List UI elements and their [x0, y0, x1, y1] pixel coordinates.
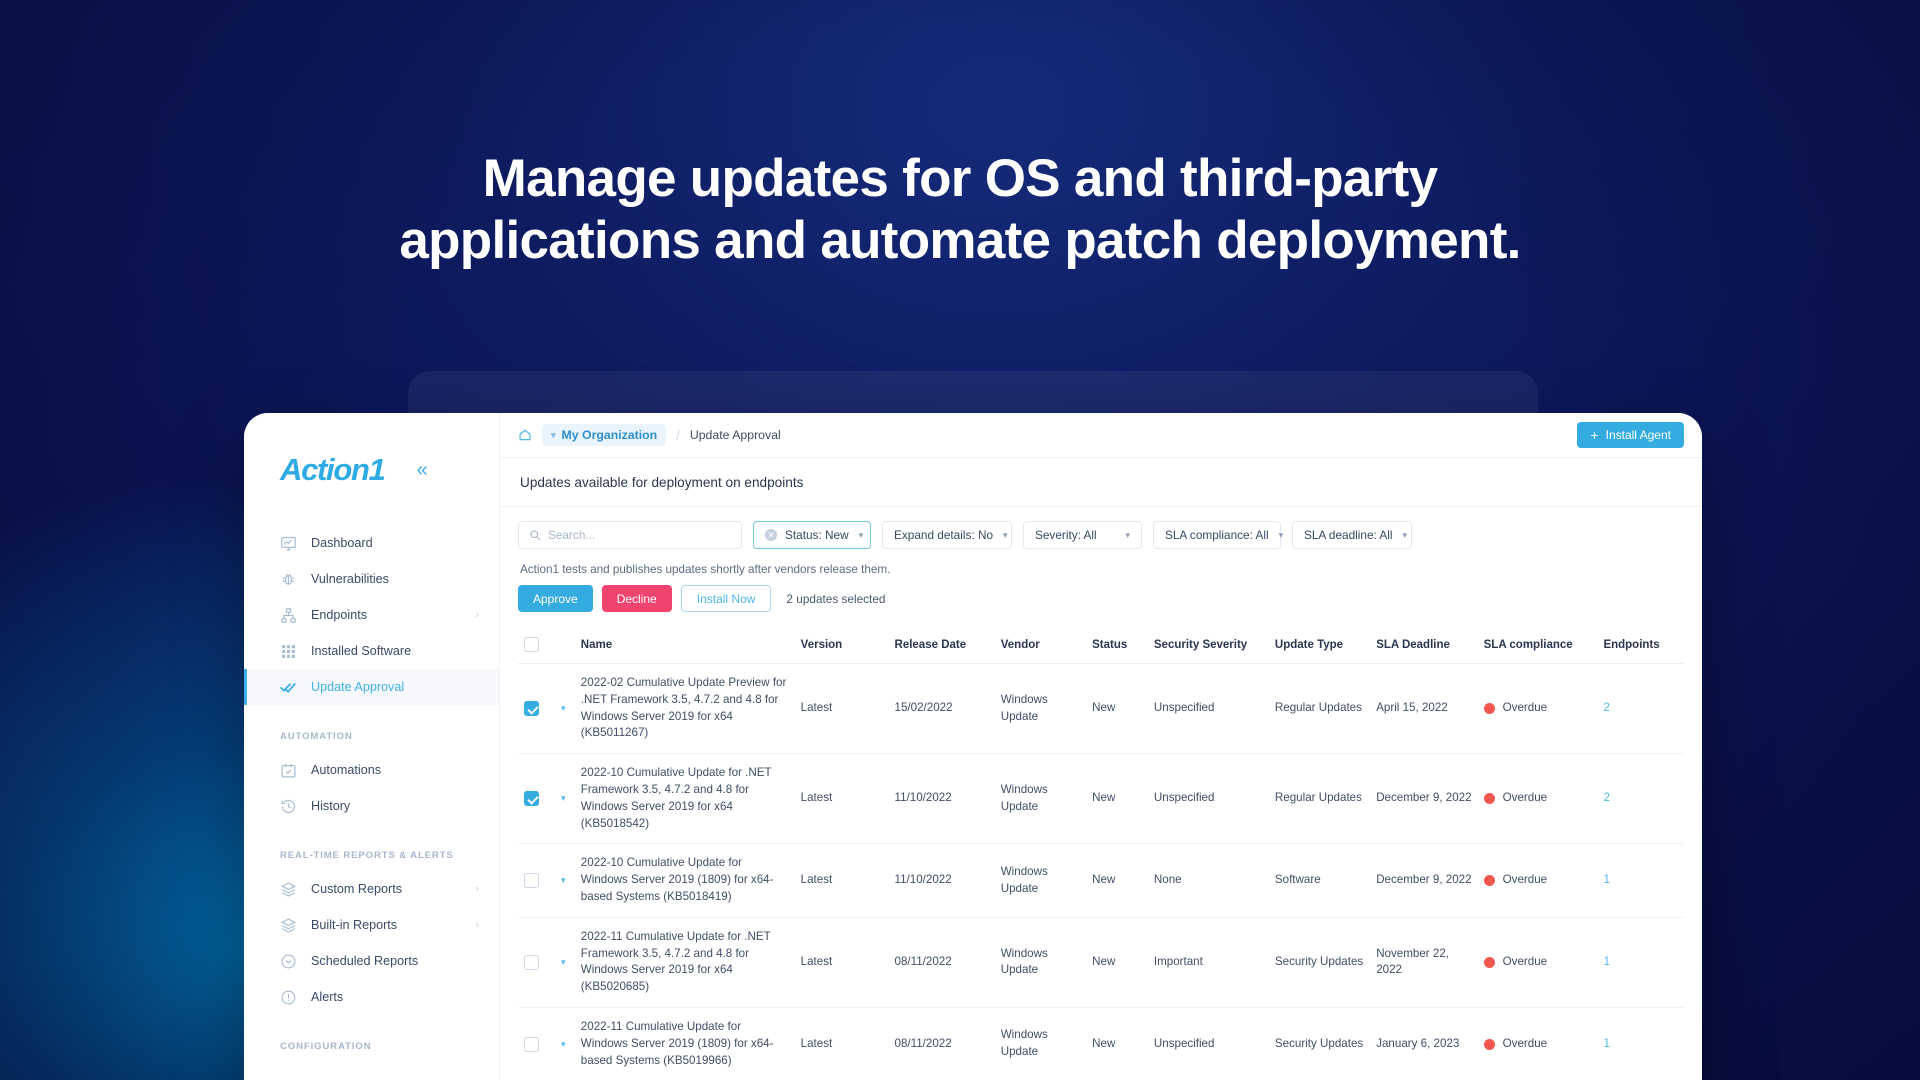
- chevron-down-icon[interactable]: ▾: [561, 875, 566, 885]
- sidebar-nav-reports: Custom Reports › Built-in Reports ›: [244, 871, 499, 1015]
- chevron-down-icon[interactable]: ▾: [561, 703, 566, 713]
- sidebar-item-history[interactable]: History: [244, 788, 499, 824]
- table-row[interactable]: ▾2022-10 Cumulative Update for Windows S…: [518, 844, 1684, 917]
- sla-status-label: Overdue: [1503, 790, 1547, 807]
- history-icon: [280, 798, 297, 815]
- home-icon[interactable]: [518, 428, 532, 442]
- endpoints-link[interactable]: 1: [1603, 873, 1609, 886]
- sidebar-item-vulnerabilities[interactable]: Vulnerabilities: [244, 561, 499, 597]
- updates-table: Name Version Release Date Vendor Status …: [518, 628, 1684, 1080]
- table-row[interactable]: ▾2022-11 Cumulative Update for Windows S…: [518, 1007, 1684, 1080]
- sidebar-item-installed-software[interactable]: Installed Software: [244, 633, 499, 669]
- row-select-cell: [518, 664, 555, 754]
- cell-sla-compliance: Overdue: [1478, 754, 1598, 844]
- promo-stage: Manage updates for OS and third-party ap…: [0, 0, 1920, 1080]
- sidebar-item-label: Update Approval: [311, 680, 479, 694]
- row-expand-cell: ▾: [555, 917, 575, 1007]
- row-expand-cell: ▾: [555, 664, 575, 754]
- sla-status-dot: [1484, 793, 1495, 804]
- select-all-checkbox[interactable]: [524, 637, 539, 652]
- close-circle-icon[interactable]: ✕: [765, 529, 777, 541]
- filter-expand-details[interactable]: Expand details: No ▾: [882, 521, 1012, 549]
- search-icon: [529, 529, 541, 541]
- selected-count-label: 2 updates selected: [786, 592, 885, 606]
- filter-sla-deadline[interactable]: SLA deadline: All ▾: [1292, 521, 1412, 549]
- column-header-status[interactable]: Status: [1086, 628, 1148, 664]
- cell-release-date: 15/02/2022: [889, 664, 995, 754]
- table-row[interactable]: ▾2022-11 Cumulative Update for .NET Fram…: [518, 917, 1684, 1007]
- cell-release-date: 08/11/2022: [889, 917, 995, 1007]
- endpoints-link[interactable]: 2: [1603, 701, 1609, 714]
- cell-security-severity: Unspecified: [1148, 1007, 1269, 1080]
- column-header-security-severity[interactable]: Security Severity: [1148, 628, 1269, 664]
- column-header-sla-deadline[interactable]: SLA Deadline: [1370, 628, 1477, 664]
- column-header-sla-compliance[interactable]: SLA compliance: [1478, 628, 1598, 664]
- cell-release-date: 11/10/2022: [889, 844, 995, 917]
- plus-icon: +: [1590, 428, 1598, 442]
- cell-sla-deadline: April 15, 2022: [1370, 664, 1477, 754]
- column-header-version[interactable]: Version: [795, 628, 889, 664]
- endpoints-link[interactable]: 1: [1603, 1037, 1609, 1050]
- breadcrumb-separator: /: [676, 428, 680, 443]
- headline-line-1: Manage updates for OS and third-party: [0, 148, 1920, 210]
- sla-status-dot: [1484, 875, 1495, 886]
- sidebar-nav-automation: Automations History: [244, 752, 499, 824]
- filter-status-label: Status: New: [785, 528, 849, 542]
- search-box[interactable]: [518, 521, 742, 549]
- row-checkbox[interactable]: [524, 791, 539, 806]
- breadcrumb-current-page: Update Approval: [690, 428, 781, 442]
- cell-status: New: [1086, 754, 1148, 844]
- sidebar-nav-main: Dashboard Vulnerabilities: [244, 525, 499, 705]
- cell-update-type: Software: [1269, 844, 1370, 917]
- cell-vendor: Windows Update: [995, 1007, 1086, 1080]
- sidebar-item-scheduled-reports[interactable]: Scheduled Reports: [244, 943, 499, 979]
- cell-vendor: Windows Update: [995, 664, 1086, 754]
- cell-endpoints: 1: [1597, 917, 1684, 1007]
- chevron-right-icon: ›: [475, 610, 479, 621]
- row-checkbox[interactable]: [524, 873, 539, 888]
- sidebar-item-custom-reports[interactable]: Custom Reports ›: [244, 871, 499, 907]
- filter-sla-compliance-label: SLA compliance: All: [1165, 528, 1269, 542]
- publish-hint: Action1 tests and publishes updates shor…: [518, 549, 1684, 585]
- cell-security-severity: Important: [1148, 917, 1269, 1007]
- cell-vendor: Windows Update: [995, 754, 1086, 844]
- sidebar-item-label: Vulnerabilities: [311, 572, 479, 586]
- filter-sla-deadline-label: SLA deadline: All: [1304, 528, 1393, 542]
- sidebar-item-update-approval[interactable]: Update Approval: [244, 669, 499, 705]
- filter-bar: ✕ Status: New ▾ Expand details: No ▾ Sev…: [518, 507, 1684, 549]
- sidebar-item-label: Alerts: [311, 990, 479, 1004]
- breadcrumb-organization-label: My Organization: [562, 428, 658, 442]
- chevron-down-icon[interactable]: ▾: [561, 957, 566, 967]
- table-body: ▾2022-02 Cumulative Update Preview for .…: [518, 664, 1684, 1080]
- search-input[interactable]: [548, 528, 731, 542]
- expand-header-cell: [555, 628, 575, 664]
- row-checkbox[interactable]: [524, 701, 539, 716]
- cell-endpoints: 2: [1597, 754, 1684, 844]
- cell-sla-compliance: Overdue: [1478, 1007, 1598, 1080]
- headline-line-2: applications and automate patch deployme…: [0, 210, 1920, 272]
- sidebar-item-label: Built-in Reports: [311, 918, 461, 932]
- cell-version: Latest: [795, 844, 889, 917]
- table-header-row: Name Version Release Date Vendor Status …: [518, 628, 1684, 664]
- page-headline: Manage updates for OS and third-party ap…: [0, 148, 1920, 272]
- chevron-right-icon: ›: [475, 884, 479, 895]
- layers-icon: [280, 881, 297, 898]
- row-expand-cell: ▾: [555, 754, 575, 844]
- cell-endpoints: 2: [1597, 664, 1684, 754]
- action-row: Approve Decline Install Now 2 updates se…: [518, 585, 1684, 628]
- sla-status-dot: [1484, 1039, 1495, 1050]
- row-expand-cell: ▾: [555, 844, 575, 917]
- grid-icon: [280, 643, 297, 660]
- cell-name: 2022-10 Cumulative Update for Windows Se…: [575, 844, 795, 917]
- cell-security-severity: Unspecified: [1148, 664, 1269, 754]
- row-select-cell: [518, 1007, 555, 1080]
- filter-severity[interactable]: Severity: All ▾: [1023, 521, 1142, 549]
- cell-sla-compliance: Overdue: [1478, 664, 1598, 754]
- row-checkbox[interactable]: [524, 955, 539, 970]
- cell-name: 2022-11 Cumulative Update for .NET Frame…: [575, 917, 795, 1007]
- chevrons-left-icon[interactable]: «: [417, 460, 428, 480]
- cell-version: Latest: [795, 1007, 889, 1080]
- cell-security-severity: Unspecified: [1148, 754, 1269, 844]
- column-header-endpoints[interactable]: Endpoints: [1597, 628, 1684, 664]
- cell-vendor: Windows Update: [995, 917, 1086, 1007]
- sla-status-dot: [1484, 957, 1495, 968]
- cell-version: Latest: [795, 917, 889, 1007]
- clock-circle-icon: [280, 953, 297, 970]
- sla-status-label: Overdue: [1503, 872, 1547, 889]
- approve-button[interactable]: Approve: [518, 585, 593, 612]
- bug-icon: [280, 571, 297, 588]
- chevron-down-icon: ▾: [1125, 530, 1130, 541]
- cell-vendor: Windows Update: [995, 844, 1086, 917]
- cell-security-severity: None: [1148, 844, 1269, 917]
- column-header-vendor[interactable]: Vendor: [995, 628, 1086, 664]
- topbar: ▾ My Organization / Update Approval + In…: [500, 413, 1702, 458]
- row-select-cell: [518, 844, 555, 917]
- cell-release-date: 11/10/2022: [889, 754, 995, 844]
- chevron-right-icon: ›: [475, 920, 479, 931]
- cell-sla-compliance: Overdue: [1478, 844, 1598, 917]
- chevron-down-icon: ▾: [551, 430, 556, 441]
- breadcrumb-organization[interactable]: ▾ My Organization: [542, 424, 666, 446]
- install-agent-label: Install Agent: [1606, 428, 1671, 442]
- alert-circle-icon: [280, 989, 297, 1006]
- sidebar-item-label: Automations: [311, 763, 479, 777]
- cell-sla-deadline: November 22, 2022: [1370, 917, 1477, 1007]
- cell-name: 2022-10 Cumulative Update for .NET Frame…: [575, 754, 795, 844]
- calendar-check-icon: [280, 762, 297, 779]
- endpoints-link[interactable]: 1: [1603, 955, 1609, 968]
- cell-sla-deadline: December 9, 2022: [1370, 754, 1477, 844]
- double-check-icon: [280, 679, 297, 696]
- endpoints-link[interactable]: 2: [1603, 791, 1609, 804]
- cell-version: Latest: [795, 664, 889, 754]
- cell-name: 2022-02 Cumulative Update Preview for .N…: [575, 664, 795, 754]
- cell-update-type: Regular Updates: [1269, 664, 1370, 754]
- sidebar-item-built-in-reports[interactable]: Built-in Reports ›: [244, 907, 499, 943]
- sidebar-section-automation: AUTOMATION: [244, 705, 499, 752]
- table-row[interactable]: ▾2022-10 Cumulative Update for .NET Fram…: [518, 754, 1684, 844]
- sla-status-label: Overdue: [1503, 1036, 1547, 1053]
- page-title: Updates available for deployment on endp…: [518, 458, 1684, 506]
- filter-severity-label: Severity: All: [1035, 528, 1097, 542]
- content-area: Updates available for deployment on endp…: [500, 458, 1702, 1080]
- cell-status: New: [1086, 844, 1148, 917]
- row-select-cell: [518, 917, 555, 1007]
- main-content: ▾ My Organization / Update Approval + In…: [500, 413, 1702, 1080]
- layers-icon: [280, 917, 297, 934]
- sla-status-label: Overdue: [1503, 700, 1547, 717]
- chevron-down-icon: ▾: [1003, 530, 1008, 541]
- cell-sla-deadline: December 9, 2022: [1370, 844, 1477, 917]
- sla-status-label: Overdue: [1503, 954, 1547, 971]
- decline-button[interactable]: Decline: [602, 585, 672, 612]
- app-logo[interactable]: Action1: [280, 452, 385, 488]
- cell-update-type: Security Updates: [1269, 917, 1370, 1007]
- chevron-down-icon: ▾: [859, 530, 864, 541]
- sidebar-item-endpoints[interactable]: Endpoints ›: [244, 597, 499, 633]
- sidebar-item-label: Endpoints: [311, 608, 461, 622]
- column-header-update-type[interactable]: Update Type: [1269, 628, 1370, 664]
- cell-sla-compliance: Overdue: [1478, 917, 1598, 1007]
- filter-sla-compliance[interactable]: SLA compliance: All ▾: [1153, 521, 1281, 549]
- sidebar-item-label: Dashboard: [311, 536, 479, 550]
- sidebar-item-label: Scheduled Reports: [311, 954, 479, 968]
- cell-update-type: Regular Updates: [1269, 754, 1370, 844]
- select-all-cell: [518, 628, 555, 664]
- row-checkbox[interactable]: [524, 1037, 539, 1052]
- chevron-down-icon[interactable]: ▾: [561, 1039, 566, 1049]
- chevron-down-icon: ▾: [1279, 530, 1284, 541]
- sidebar-item-label: History: [311, 799, 479, 813]
- column-header-name[interactable]: Name: [575, 628, 795, 664]
- cell-name: 2022-11 Cumulative Update for Windows Se…: [575, 1007, 795, 1080]
- sidebar: Action1 « Dashboard: [244, 413, 500, 1080]
- sidebar-section-configuration: CONFIGURATION: [244, 1015, 499, 1062]
- cell-status: New: [1086, 917, 1148, 1007]
- sidebar-section-reports: REAL-TIME REPORTS & ALERTS: [244, 824, 499, 871]
- filter-expand-details-label: Expand details: No: [894, 528, 993, 542]
- dashboard-icon: [280, 535, 297, 552]
- sidebar-item-label: Installed Software: [311, 644, 479, 658]
- cell-endpoints: 1: [1597, 1007, 1684, 1080]
- install-now-button[interactable]: Install Now: [681, 585, 772, 612]
- sitemap-icon: [280, 607, 297, 624]
- cell-status: New: [1086, 664, 1148, 754]
- cell-status: New: [1086, 1007, 1148, 1080]
- filter-status[interactable]: ✕ Status: New ▾: [753, 521, 871, 549]
- sla-status-dot: [1484, 703, 1495, 714]
- cell-update-type: Security Updates: [1269, 1007, 1370, 1080]
- table-row[interactable]: ▾2022-02 Cumulative Update Preview for .…: [518, 664, 1684, 754]
- sidebar-item-dashboard[interactable]: Dashboard: [244, 525, 499, 561]
- cell-version: Latest: [795, 754, 889, 844]
- sidebar-item-automations[interactable]: Automations: [244, 752, 499, 788]
- chevron-down-icon: ▾: [1403, 530, 1408, 541]
- cell-sla-deadline: January 6, 2023: [1370, 1007, 1477, 1080]
- sidebar-item-alerts[interactable]: Alerts: [244, 979, 499, 1015]
- table-head: Name Version Release Date Vendor Status …: [518, 628, 1684, 664]
- sidebar-header: Action1 «: [244, 435, 499, 495]
- chevron-down-icon[interactable]: ▾: [561, 793, 566, 803]
- app-window: Action1 « Dashboard: [244, 413, 1702, 1080]
- sidebar-item-label: Custom Reports: [311, 882, 461, 896]
- cell-endpoints: 1: [1597, 844, 1684, 917]
- install-agent-button[interactable]: + Install Agent: [1577, 422, 1684, 448]
- row-select-cell: [518, 754, 555, 844]
- row-expand-cell: ▾: [555, 1007, 575, 1080]
- cell-release-date: 08/11/2022: [889, 1007, 995, 1080]
- column-header-release-date[interactable]: Release Date: [889, 628, 995, 664]
